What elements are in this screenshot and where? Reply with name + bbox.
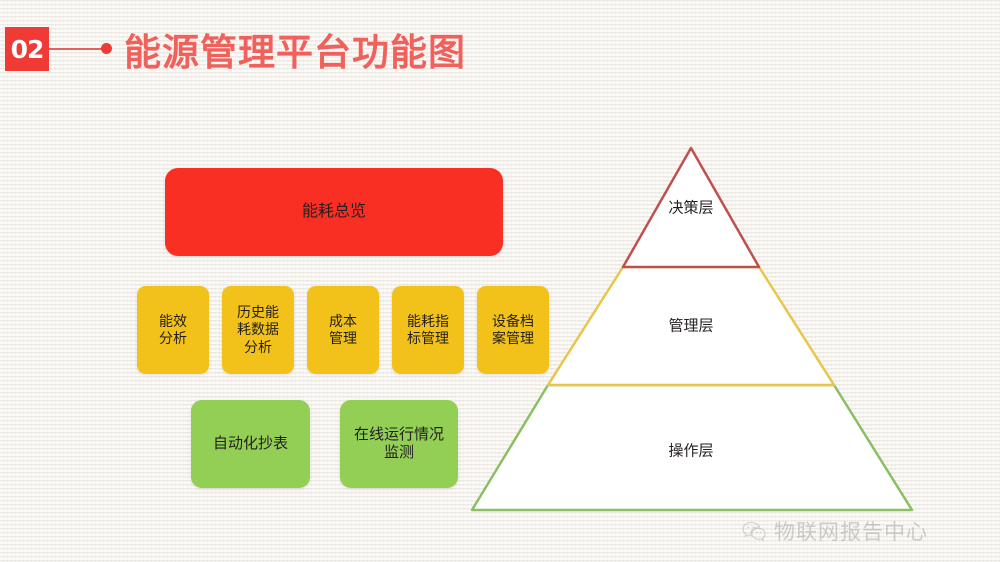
watermark: 物联网报告中心	[742, 516, 928, 546]
wechat-icon	[742, 521, 767, 542]
header-connector-dot-icon	[101, 43, 112, 54]
watermark-text: 物联网报告中心	[774, 516, 928, 546]
page-title: 能源管理平台功能图	[124, 22, 466, 76]
pyramid-diagram: 决策层 管理层 操作层	[455, 135, 930, 530]
section-number-badge: 02	[5, 27, 49, 71]
function-box-online-operation-monitoring[interactable]: 在线运行情况监测	[340, 400, 458, 488]
function-box-energy-efficiency-analysis[interactable]: 能效分析	[137, 286, 209, 374]
function-box-historical-data-analysis[interactable]: 历史能耗数据分析	[222, 286, 294, 374]
function-box-automatic-meter-reading[interactable]: 自动化抄表	[191, 400, 310, 488]
function-box-overview[interactable]: 能耗总览	[165, 168, 503, 256]
function-box-energy-index-management[interactable]: 能耗指标管理	[392, 286, 464, 374]
slide-canvas: 02 能源管理平台功能图 能耗总览 能效分析 历史能耗数据分析 成本管理 能耗指…	[0, 0, 1000, 562]
header-connector-line	[49, 48, 105, 50]
pyramid-label-management: 管理层	[668, 315, 713, 336]
pyramid-label-decision: 决策层	[668, 197, 713, 218]
pyramid-label-operation: 操作层	[668, 440, 713, 461]
function-box-cost-management[interactable]: 成本管理	[307, 286, 379, 374]
